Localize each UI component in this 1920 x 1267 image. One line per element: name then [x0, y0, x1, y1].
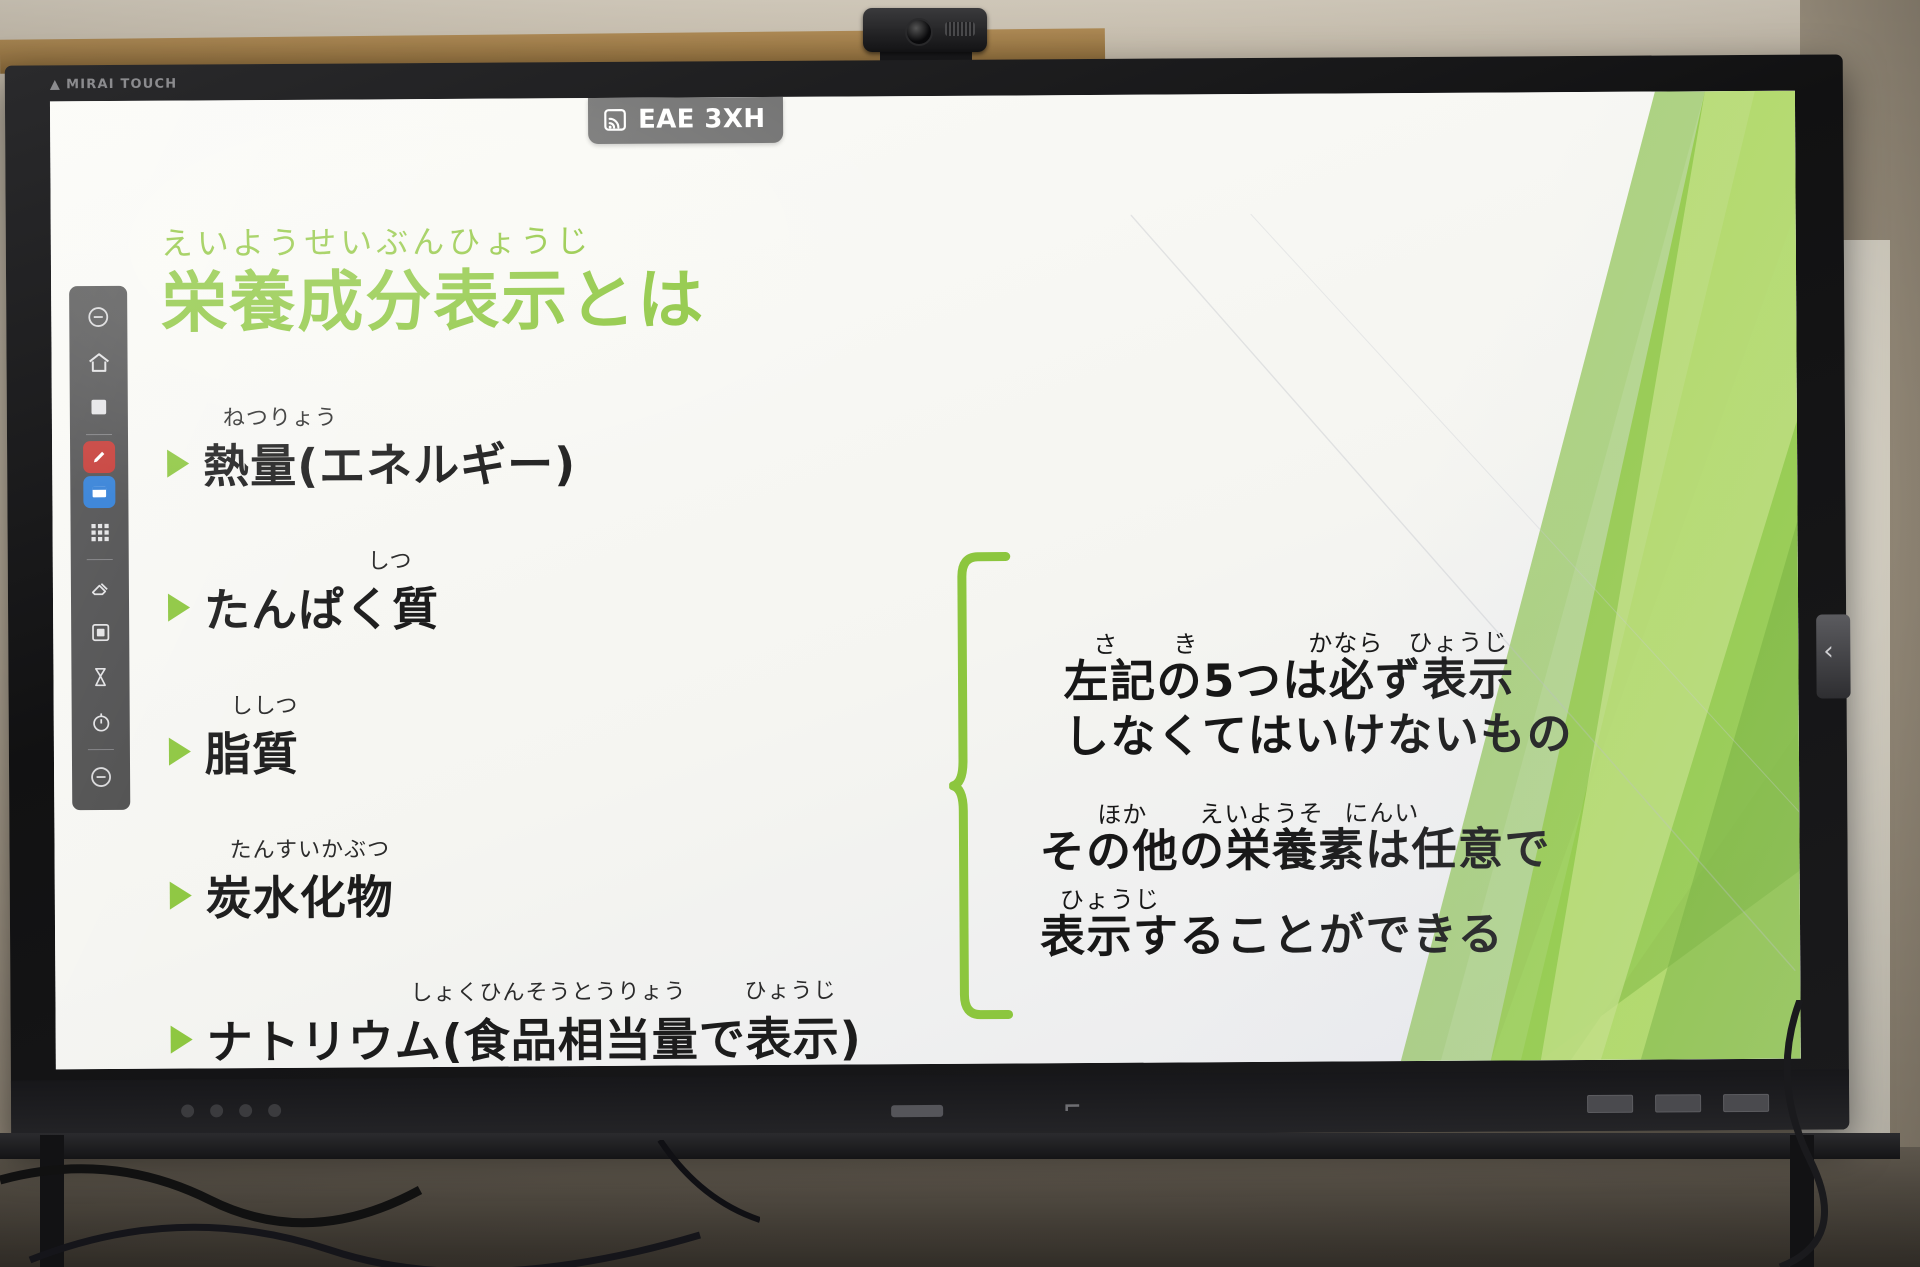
triangle-bullet-icon	[167, 450, 189, 478]
note-1-ruby-2: かなら	[1308, 623, 1383, 658]
note-2-ruby-2: にんい	[1344, 793, 1419, 828]
cables	[0, 1140, 760, 1267]
list-item-label: 炭水化物	[206, 861, 394, 928]
note-1-line-1: 左記の5つは必ず表示	[1063, 652, 1573, 710]
note-2-line-2: 表示することができる	[1040, 907, 1552, 965]
list-item: ねつりょう 熱量(エネルギー)	[167, 396, 888, 496]
stopwatch-icon[interactable]	[79, 701, 123, 743]
toolbar-divider	[87, 559, 113, 560]
note-1-ruby-1: き	[1173, 624, 1198, 659]
ir-sensor	[891, 1105, 943, 1117]
side-handle-button[interactable]	[1816, 614, 1851, 698]
display-button-row[interactable]	[181, 1104, 281, 1118]
toolbar-divider	[86, 434, 112, 435]
triangle-bullet-icon	[170, 881, 192, 909]
collapse-icon[interactable]	[79, 756, 123, 798]
volume-up-button[interactable]	[268, 1104, 281, 1117]
triangle-bullet-icon	[169, 737, 191, 765]
note-1-furigana: さ き かなら ひょうじ	[1063, 622, 1572, 655]
display-screen[interactable]: EAE 3XH えいようせいぶんひょうじ 栄養成分表示とは ねつりょう 熱量(エ…	[50, 91, 1801, 1070]
timer-icon[interactable]	[78, 656, 122, 698]
list-item-furigana-a: しょくひんそうとうりょう	[410, 979, 686, 1006]
list-item-label: たんぱく質	[204, 573, 439, 640]
note-2-furigana-bottom: ひょうじ	[1040, 877, 1552, 910]
note-2-furigana-top: ほか えいようそ にんい	[1039, 792, 1551, 825]
cast-screen-icon	[602, 107, 628, 133]
list-item: しょくひんそうとうりょうひょうじ ナトリウム(食品相当量で表示)	[170, 972, 891, 1069]
brand-name: MIRAI TOUCH	[66, 77, 177, 93]
usb-port	[1587, 1095, 1633, 1113]
note-2-ruby-3: ひょうじ	[1060, 879, 1160, 915]
note-1-line-2: しなくてはいけないもの	[1064, 707, 1574, 765]
slide-title-block: えいようせいぶんひょうじ 栄養成分表示とは	[161, 215, 706, 338]
grid-apps-icon[interactable]	[77, 511, 121, 553]
cast-badge-label: EAE 3XH	[638, 104, 766, 135]
annotate-red-icon[interactable]	[83, 441, 115, 473]
floating-toolbar[interactable]	[69, 286, 130, 810]
window-blue-icon[interactable]	[83, 476, 115, 508]
list-item: たんすいかぶつ 炭水化物	[169, 828, 890, 928]
toolbar-divider	[88, 749, 114, 750]
power-button[interactable]	[181, 1104, 194, 1117]
list-item-label: 脂質	[205, 718, 299, 785]
list-item-furigana-b: ひょうじ	[744, 979, 836, 1005]
triangle-bullet-icon	[168, 594, 190, 622]
brand-logo-icon: ▲	[50, 77, 61, 92]
webcam-grille	[945, 22, 975, 36]
menu-button[interactable]	[210, 1104, 223, 1117]
webcam-lens-icon	[905, 18, 933, 46]
webcam-body	[863, 8, 987, 52]
list-item-label: ナトリウム(食品相当量で表示)	[206, 1002, 861, 1069]
note-2-ruby-0: ほか	[1097, 795, 1147, 830]
title-furigana: えいようせいぶんひょうじ	[161, 215, 705, 264]
eraser-icon[interactable]	[78, 566, 122, 608]
note-1-ruby-3: ひょうじ	[1408, 622, 1508, 658]
hdmi-port	[1655, 1094, 1701, 1112]
bottom-logo-icon: ⌐	[1063, 1095, 1082, 1120]
home-icon[interactable]	[76, 341, 120, 383]
note-2-ruby-1: えいようそ	[1199, 794, 1324, 830]
room-scene: ▲MIRAI TOUCH	[0, 0, 1920, 1267]
curly-brace-graphic	[948, 550, 1021, 1020]
cast-status-badge[interactable]: EAE 3XH	[588, 97, 784, 144]
triangle-bullet-icon	[171, 1025, 193, 1053]
stop-square-icon[interactable]	[77, 386, 121, 428]
list-item-label: 熱量(エネルギー)	[203, 428, 576, 496]
note-block-2: ほか えいようそ にんい その他の栄養素は任意で ひょうじ 表示することができる	[1039, 792, 1552, 965]
screenshot-icon[interactable]	[78, 611, 122, 653]
device-brand: ▲MIRAI TOUCH	[50, 77, 178, 93]
list-item: しつ たんぱく質	[168, 540, 889, 640]
note-block-1: さ き かなら ひょうじ 左記の5つは必ず表示 しなくてはいけないもの	[1063, 622, 1573, 765]
page-title: 栄養成分表示とは	[161, 265, 705, 338]
side-cable	[1740, 1000, 1860, 1267]
display-bottom-bezel: ⌐	[11, 1069, 1849, 1140]
list-item: ししつ 脂質	[169, 684, 890, 784]
note-1-ruby-0: さ	[1093, 625, 1118, 660]
interactive-display: ▲MIRAI TOUCH	[5, 54, 1850, 1140]
note-2-line-1: その他の栄養素は任意で	[1039, 822, 1551, 880]
nutrient-list: ねつりょう 熱量(エネルギー) しつ たんぱく質	[167, 396, 891, 1069]
volume-down-button[interactable]	[239, 1104, 252, 1117]
minimize-icon[interactable]	[76, 296, 120, 338]
presentation-slide: EAE 3XH えいようせいぶんひょうじ 栄養成分表示とは ねつりょう 熱量(エ…	[50, 91, 1801, 1070]
